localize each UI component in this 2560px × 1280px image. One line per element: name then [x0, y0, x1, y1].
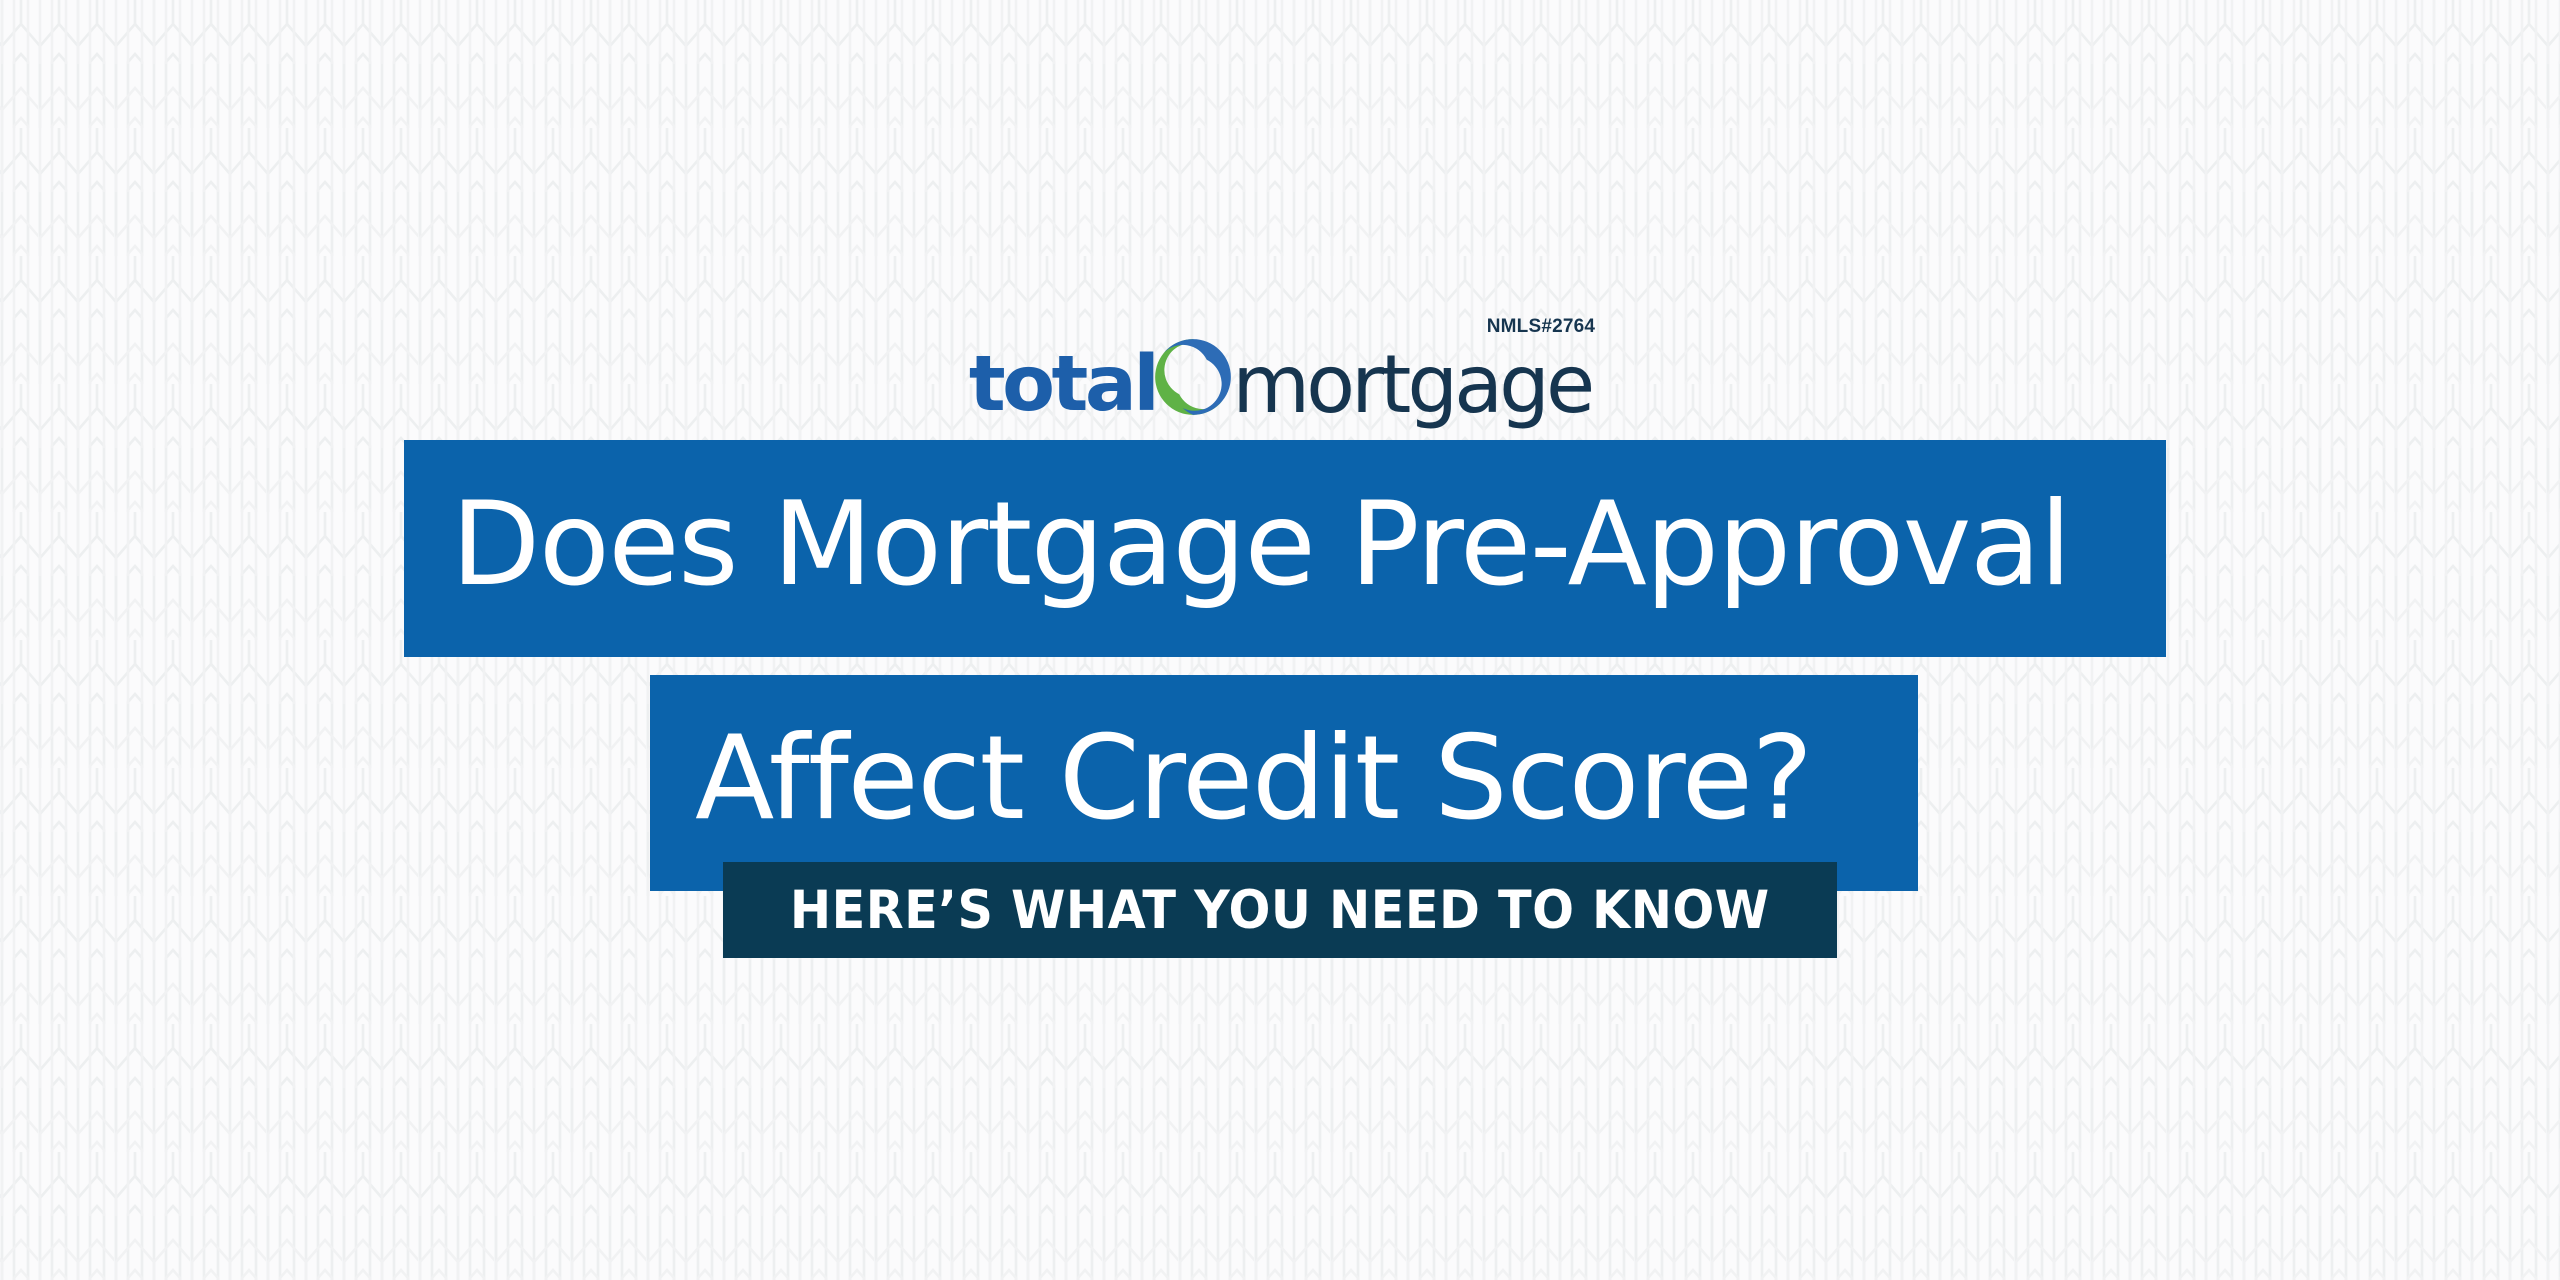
headline-banner-line-1: Does Mortgage Pre-Approval	[404, 440, 2166, 657]
brand-logo: total mortgage NMLS#2764	[0, 322, 2560, 434]
promo-graphic-canvas: total mortgage NMLS#2764 Does Mortgage P…	[0, 0, 2560, 1280]
headline-line-2-text: Affect Credit Score?	[695, 721, 1812, 837]
brand-wordmark-total: total	[969, 346, 1156, 423]
headline-banner-line-2: Affect Credit Score?	[650, 675, 1918, 891]
brand-wordmark-mortgage: mortgage	[1232, 345, 1591, 425]
headline-line-1-text: Does Mortgage Pre-Approval	[451, 487, 2070, 603]
subtitle-text: HERE’S WHAT YOU NEED TO KNOW	[790, 884, 1770, 937]
nmls-license-badge: NMLS#2764	[1487, 316, 1595, 338]
circular-swoosh-icon	[1150, 334, 1236, 420]
brand-logo-lockup: total mortgage NMLS#2764	[969, 322, 1591, 434]
subtitle-bar: HERE’S WHAT YOU NEED TO KNOW	[723, 862, 1837, 958]
